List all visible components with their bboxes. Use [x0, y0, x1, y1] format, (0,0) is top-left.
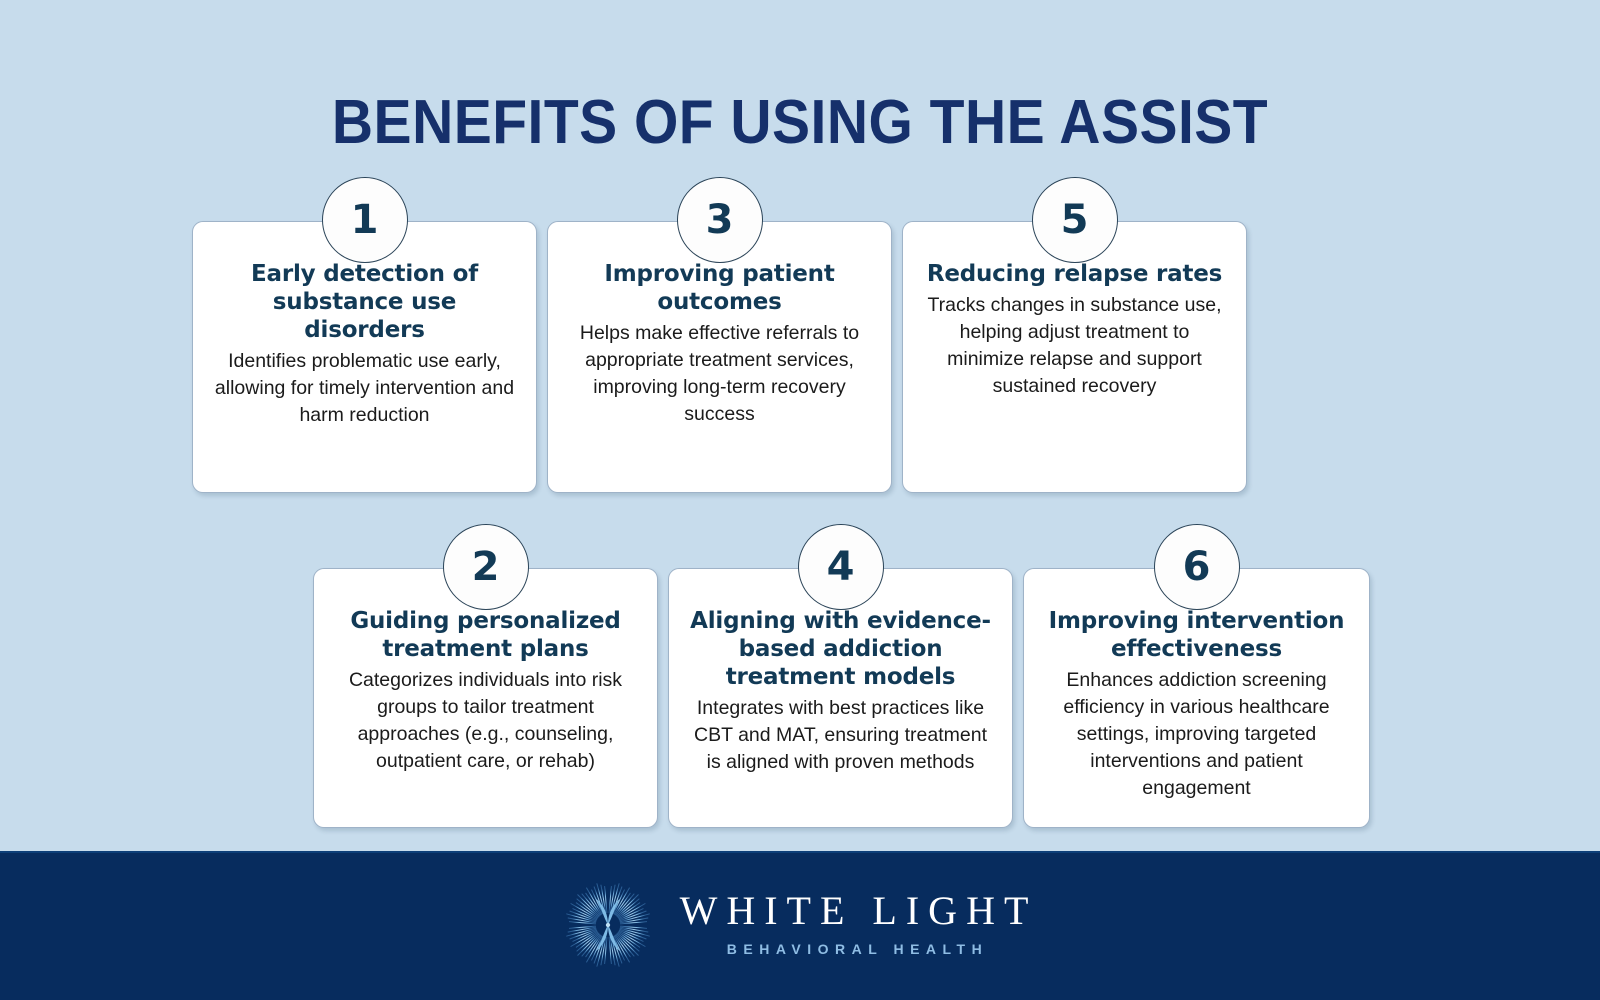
card-5: 5 Reducing relapse rates Tracks changes …	[902, 221, 1247, 493]
card-1: 1 Early detection of substance use disor…	[192, 221, 537, 493]
starburst-logo-icon	[563, 880, 653, 970]
card-row-bottom: 2 Guiding personalized treatment plans C…	[313, 568, 1370, 828]
card-number-badge-2: 2	[443, 524, 529, 610]
card-number-badge-5: 5	[1032, 177, 1118, 263]
footer-bar: WHITE LIGHT BEHAVIORAL HEALTH	[0, 851, 1600, 1000]
card-title-4: Aligning with evidence-based addiction t…	[685, 607, 996, 691]
card-6: 6 Improving intervention effectiveness E…	[1023, 568, 1370, 828]
brand-name: WHITE LIGHT	[671, 891, 1038, 931]
infographic-poster: BENEFITS OF USING THE ASSIST 1 Early det…	[0, 0, 1600, 1000]
page-title: BENEFITS OF USING THE ASSIST	[64, 90, 1536, 155]
card-number-badge-4: 4	[798, 524, 884, 610]
card-desc-3: Helps make effective referrals to approp…	[564, 320, 875, 428]
brand-logo: WHITE LIGHT BEHAVIORAL HEALTH	[563, 880, 1038, 970]
brand-tagline: BEHAVIORAL HEALTH	[720, 942, 988, 956]
brand-lockup: WHITE LIGHT BEHAVIORAL HEALTH	[671, 891, 1038, 958]
card-desc-1: Identifies problematic use early, allowi…	[209, 348, 520, 429]
card-desc-6: Enhances addiction screening efficiency …	[1040, 667, 1353, 802]
card-desc-2: Categorizes individuals into risk groups…	[330, 667, 641, 775]
card-number-badge-6: 6	[1154, 524, 1240, 610]
card-desc-4: Integrates with best practices like CBT …	[685, 695, 996, 776]
card-title-5: Reducing relapse rates	[919, 260, 1230, 288]
card-number-badge-3: 3	[677, 177, 763, 263]
card-4: 4 Aligning with evidence-based addiction…	[668, 568, 1013, 828]
card-number-badge-1: 1	[322, 177, 408, 263]
card-2: 2 Guiding personalized treatment plans C…	[313, 568, 658, 828]
card-title-6: Improving intervention effectiveness	[1040, 607, 1353, 663]
card-row-top: 1 Early detection of substance use disor…	[192, 221, 1247, 493]
card-title-3: Improving patient outcomes	[564, 260, 875, 316]
card-title-1: Early detection of substance use disorde…	[209, 260, 520, 344]
card-desc-5: Tracks changes in substance use, helping…	[919, 292, 1230, 400]
card-title-2: Guiding personalized treatment plans	[330, 607, 641, 663]
card-3: 3 Improving patient outcomes Helps make …	[547, 221, 892, 493]
